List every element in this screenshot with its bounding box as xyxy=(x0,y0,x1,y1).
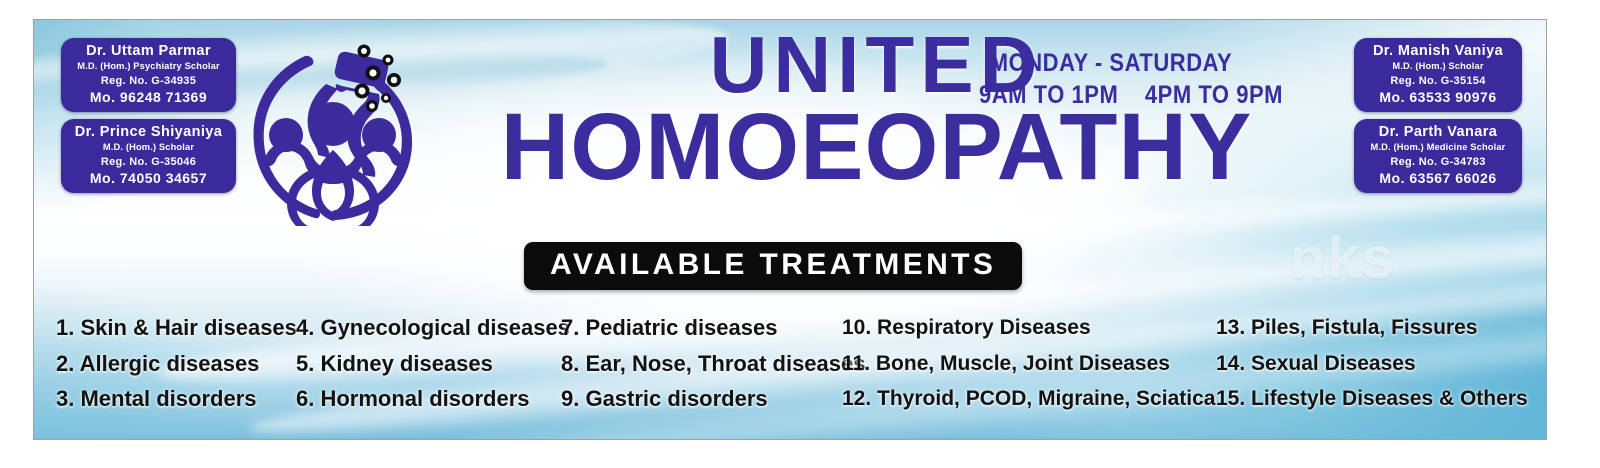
doctor-mobile: Mo. 96248 71369 xyxy=(71,88,226,106)
doctor-qualification: M.D. (Hom.) Scholar xyxy=(1364,60,1512,73)
clinic-banner: nks Dr. Uttam Parmar M.D. (Hom.) Psychia… xyxy=(33,19,1547,440)
doctor-qualification: M.D. (Hom.) Psychiatry Scholar xyxy=(71,60,226,73)
doctor-mobile: Mo. 63567 66026 xyxy=(1364,169,1512,187)
list-item: 13. Piles, Fistula, Fissures xyxy=(1216,310,1536,346)
doctor-mobile: Mo. 74050 34657 xyxy=(71,169,226,187)
doctor-mobile: Mo. 63533 90976 xyxy=(1364,88,1512,106)
treatments-column: 10. Respiratory Diseases 11. Bone, Muscl… xyxy=(842,310,1212,417)
available-treatments-label: AVAILABLE TREATMENTS xyxy=(550,250,996,280)
list-item: 15. Lifestyle Diseases & Others xyxy=(1216,381,1536,417)
treatments-column: 4. Gynecological diseases 5. Kidney dise… xyxy=(296,310,546,417)
list-item: 7. Pediatric diseases xyxy=(561,310,841,346)
list-item: 14. Sexual Diseases xyxy=(1216,346,1536,382)
doctor-card-manish-vaniya: Dr. Manish Vaniya M.D. (Hom.) Scholar Re… xyxy=(1354,38,1522,112)
treatments-column: 7. Pediatric diseases 8. Ear, Nose, Thro… xyxy=(561,310,841,417)
available-treatments-banner: AVAILABLE TREATMENTS xyxy=(524,242,1022,290)
list-item: 2. Allergic diseases xyxy=(56,346,306,382)
timings-hours: 9AM TO 1PM 4PM TO 9PM xyxy=(979,81,1243,109)
list-item: 4. Gynecological diseases xyxy=(296,310,546,346)
treatments-column: 1. Skin & Hair diseases 2. Allergic dise… xyxy=(56,310,306,417)
list-item: 12. Thyroid, PCOD, Migraine, Sciatica xyxy=(842,381,1212,417)
doctor-name: Dr. Manish Vaniya xyxy=(1364,42,1512,60)
doctor-name: Dr. Parth Vanara xyxy=(1364,123,1512,141)
list-item: 5. Kidney diseases xyxy=(296,346,546,382)
doctor-registration: Reg. No. G-35046 xyxy=(71,155,226,170)
doctor-registration: Reg. No. G-34783 xyxy=(1364,155,1512,170)
doctor-card-parth-vanara: Dr. Parth Vanara M.D. (Hom.) Medicine Sc… xyxy=(1354,119,1522,193)
doctor-card-uttam-parmar: Dr. Uttam Parmar M.D. (Hom.) Psychiatry … xyxy=(61,38,236,112)
list-item: 9. Gastric disorders xyxy=(561,381,841,417)
list-item: 6. Hormonal disorders xyxy=(296,381,546,417)
list-item: 11. Bone, Muscle, Joint Diseases xyxy=(842,346,1212,382)
title-line-homoeopathy: HOMOEOPATHY xyxy=(424,101,1329,194)
doctor-name: Dr. Prince Shiyaniya xyxy=(71,123,226,141)
doctor-qualification: M.D. (Hom.) Medicine Scholar xyxy=(1364,141,1512,154)
list-item: 1. Skin & Hair diseases xyxy=(56,310,306,346)
timings-days: MONDAY - SATURDAY xyxy=(979,49,1243,77)
clinic-timings: MONDAY - SATURDAY 9AM TO 1PM 4PM TO 9PM xyxy=(961,49,1261,109)
treatments-list: 1. Skin & Hair diseases 2. Allergic dise… xyxy=(34,310,1546,435)
doctor-card-prince-shiyaniya: Dr. Prince Shiyaniya M.D. (Hom.) Scholar… xyxy=(61,119,236,193)
doctor-name: Dr. Uttam Parmar xyxy=(71,42,226,60)
clinic-logo-icon xyxy=(242,34,424,230)
ghost-watermark-text: nks xyxy=(1290,225,1396,292)
treatments-column: 13. Piles, Fistula, Fissures 14. Sexual … xyxy=(1216,310,1536,417)
list-item: 3. Mental disorders xyxy=(56,381,306,417)
list-item: 8. Ear, Nose, Throat diseases xyxy=(561,346,841,382)
doctor-qualification: M.D. (Hom.) Scholar xyxy=(71,141,226,154)
list-item: 10. Respiratory Diseases xyxy=(842,310,1212,346)
doctor-registration: Reg. No. G-34935 xyxy=(71,74,226,89)
doctor-registration: Reg. No. G-35154 xyxy=(1364,74,1512,89)
